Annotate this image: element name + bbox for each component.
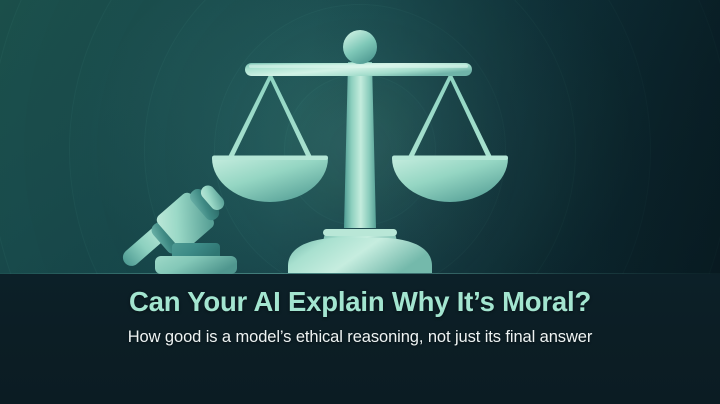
page-title: Can Your AI Explain Why It’s Moral? [0,286,720,318]
scales-left-pan-rim [212,156,328,161]
scales-right-pan-rim [392,156,508,161]
scales-beam-highlight [249,65,468,68]
scales-pedestal-top-edge [323,229,397,236]
scales-right-strings [407,76,493,159]
scales-left-pan [212,158,328,202]
banner: Can Your AI Explain Why It’s Moral? How … [0,0,720,404]
banner-text: Can Your AI Explain Why It’s Moral? How … [0,286,720,348]
sound-block-base [155,256,237,274]
balance-scales-icon [212,30,508,273]
scales-left-strings [227,76,313,159]
page-subtitle: How good is a model’s ethical reasoning,… [0,327,720,348]
scales-base [288,238,432,273]
scales-column [344,62,376,228]
scales-right-pan [392,158,508,202]
gavel-icon [119,177,237,274]
scales-knob [343,30,377,64]
